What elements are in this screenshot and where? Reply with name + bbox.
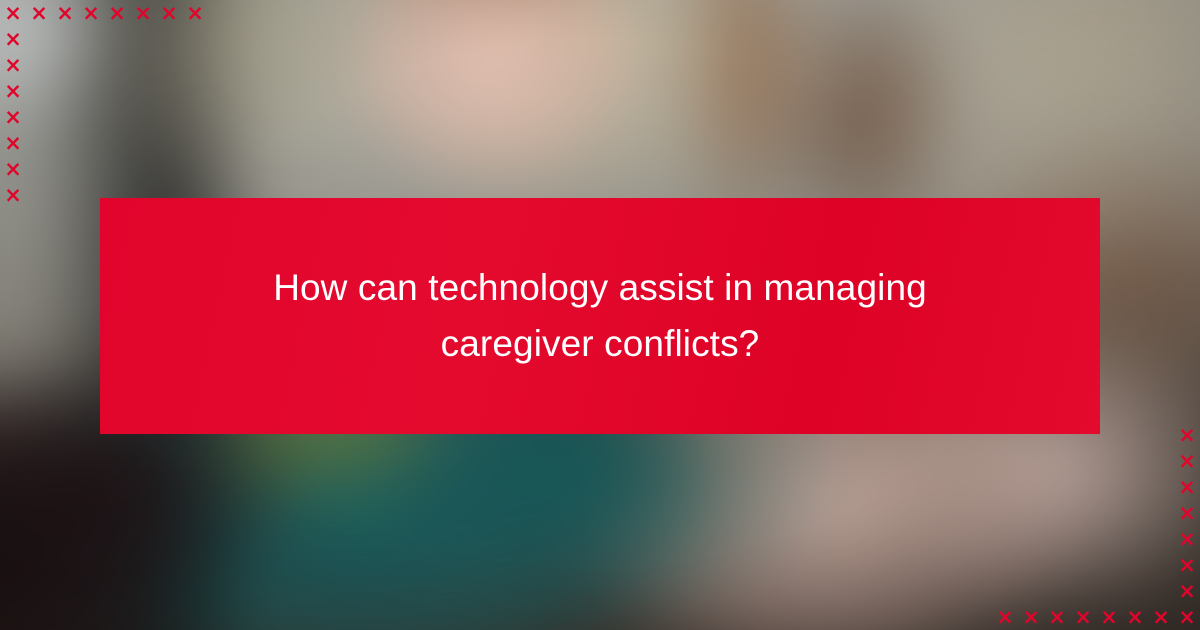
page-title: How can technology assist in managing ca… xyxy=(200,260,1000,372)
title-banner: How can technology assist in managing ca… xyxy=(100,198,1100,434)
social-share-card: ×××××××× ××××××× ×××××××× ××××××× How ca… xyxy=(0,0,1200,630)
